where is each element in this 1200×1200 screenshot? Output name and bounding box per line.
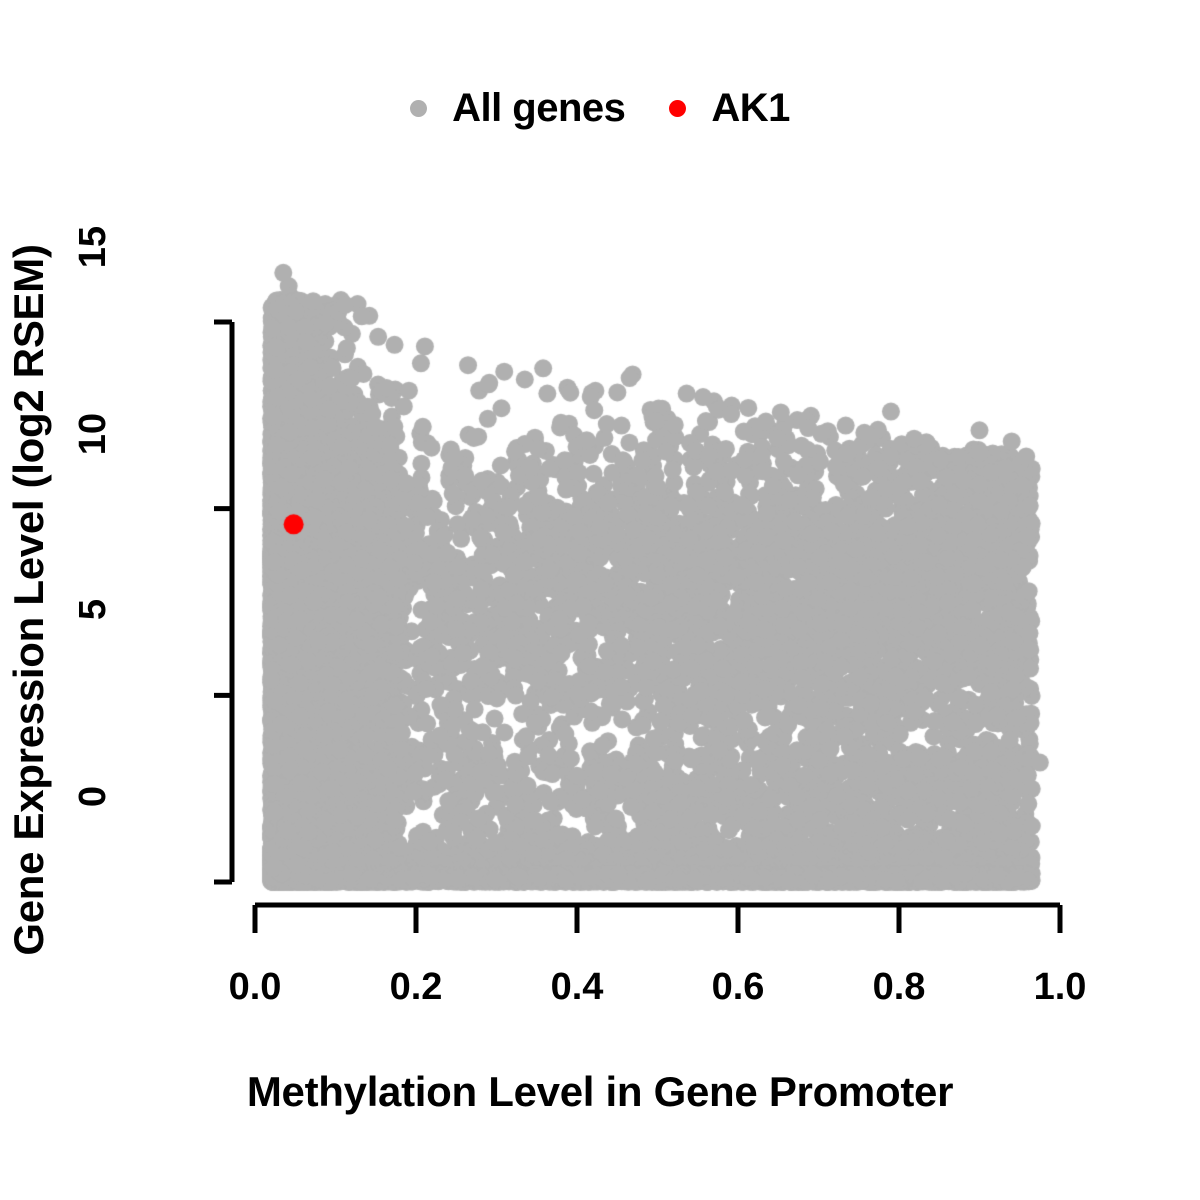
y-tick-label: 10: [74, 413, 112, 599]
y-tick-label: 0: [74, 786, 112, 972]
x-tick-label: 0.0: [229, 968, 282, 1006]
y-tick-label: 15: [74, 226, 112, 412]
x-tick-label: 0.8: [873, 968, 926, 1006]
x-tick-label: 0.6: [712, 968, 765, 1006]
x-tick-label: 0.4: [551, 968, 604, 1006]
x-axis-title: Methylation Level in Gene Promoter: [0, 1068, 1200, 1116]
x-tick-label: 1.0: [1034, 968, 1087, 1006]
x-tick-label: 0.2: [390, 968, 443, 1006]
y-tick-label: 5: [74, 599, 112, 785]
scatter-points-layer: [0, 0, 1200, 1200]
y-axis-title: Gene Expression Level (log2 RSEM): [0, 0, 58, 1200]
scatter-plot-figure: All genes AK1 0.00.20.40.60.81.0 051015 …: [0, 0, 1200, 1200]
